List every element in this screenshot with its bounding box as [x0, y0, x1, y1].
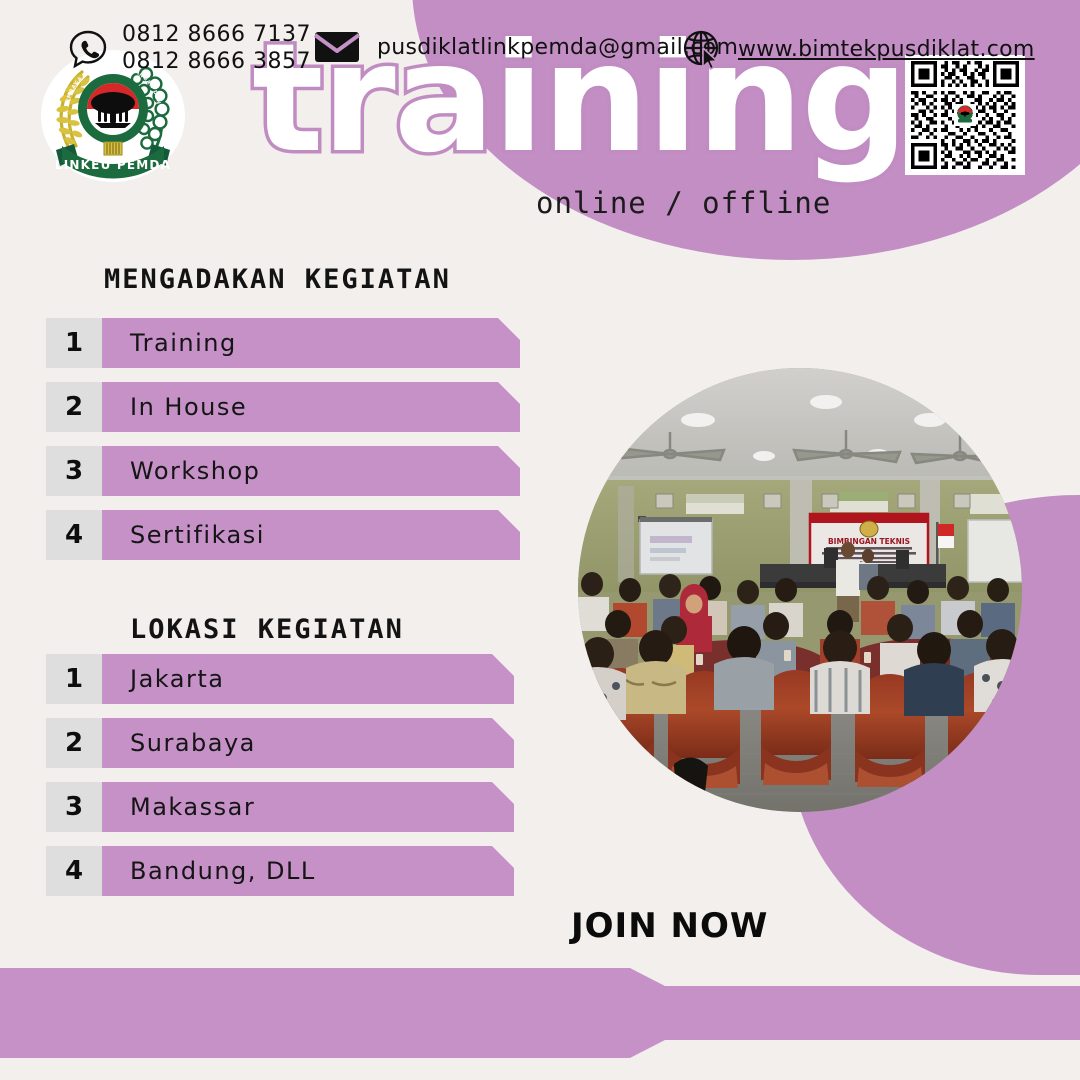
envelope-icon	[313, 29, 361, 65]
phone-number-1: 0812 8666 7137	[122, 22, 311, 47]
phone-chat-icon	[68, 29, 108, 69]
list-item-label: Surabaya	[102, 718, 514, 768]
activities-list: 1 Training 2 In House 3 Workshop 4 Serti…	[46, 318, 520, 574]
website-url: www.bimtekpusdiklat.com	[738, 37, 1035, 62]
section-heading-locations: LOKASI KEGIATAN	[130, 614, 404, 645]
subtitle: online / offline	[536, 186, 831, 220]
list-item-number: 2	[46, 382, 102, 432]
contact-phone[interactable]: 0812 8666 7137 0812 8666 3857	[68, 22, 311, 76]
locations-list: 1 Jakarta 2 Surabaya 3 Makassar 4 Bandun…	[46, 654, 514, 910]
contact-email[interactable]: pusdiklatlinkpemda@gmail.com	[313, 29, 738, 65]
list-item-number: 3	[46, 782, 102, 832]
training-seminar-photo: BIMBINGAN TEKNIS	[578, 368, 1022, 812]
section-heading-activities: MENGADAKAN KEGIATAN	[104, 264, 451, 295]
list-item-number: 2	[46, 718, 102, 768]
list-item-number: 3	[46, 446, 102, 496]
list-item-label: In House	[102, 382, 520, 432]
list-item-number: 4	[46, 510, 102, 560]
list-item-label: Jakarta	[102, 654, 514, 704]
list-item-label: Workshop	[102, 446, 520, 496]
phone-number-2: 0812 8666 3857	[122, 49, 311, 74]
list-item[interactable]: 3 Makassar	[46, 782, 514, 832]
list-item[interactable]: 2 In House	[46, 382, 520, 432]
footer-bar	[0, 968, 1080, 1058]
list-item-number: 4	[46, 846, 102, 896]
list-item-label: Makassar	[102, 782, 514, 832]
list-item[interactable]: 3 Workshop	[46, 446, 520, 496]
list-item[interactable]: 1 Jakarta	[46, 654, 514, 704]
list-item-label: Sertifikasi	[102, 510, 520, 560]
footer-contacts: 0812 8666 7137 0812 8666 3857 pusdiklatl…	[0, 0, 1080, 90]
list-item[interactable]: 4 Sertifikasi	[46, 510, 520, 560]
phone-numbers: 0812 8666 7137 0812 8666 3857	[122, 22, 311, 76]
svg-text:LINKEU PEMDA: LINKEU PEMDA	[55, 158, 171, 172]
join-now-cta[interactable]: JOIN NOW	[571, 906, 768, 946]
globe-cursor-icon	[680, 27, 724, 71]
list-item-label: Bandung, DLL	[102, 846, 514, 896]
contact-website[interactable]: www.bimtekpusdiklat.com	[680, 27, 1035, 71]
list-item-number: 1	[46, 654, 102, 704]
list-item[interactable]: 2 Surabaya	[46, 718, 514, 768]
list-item[interactable]: 1 Training	[46, 318, 520, 368]
list-item-label: Training	[102, 318, 520, 368]
list-item[interactable]: 4 Bandung, DLL	[46, 846, 514, 896]
list-item-number: 1	[46, 318, 102, 368]
